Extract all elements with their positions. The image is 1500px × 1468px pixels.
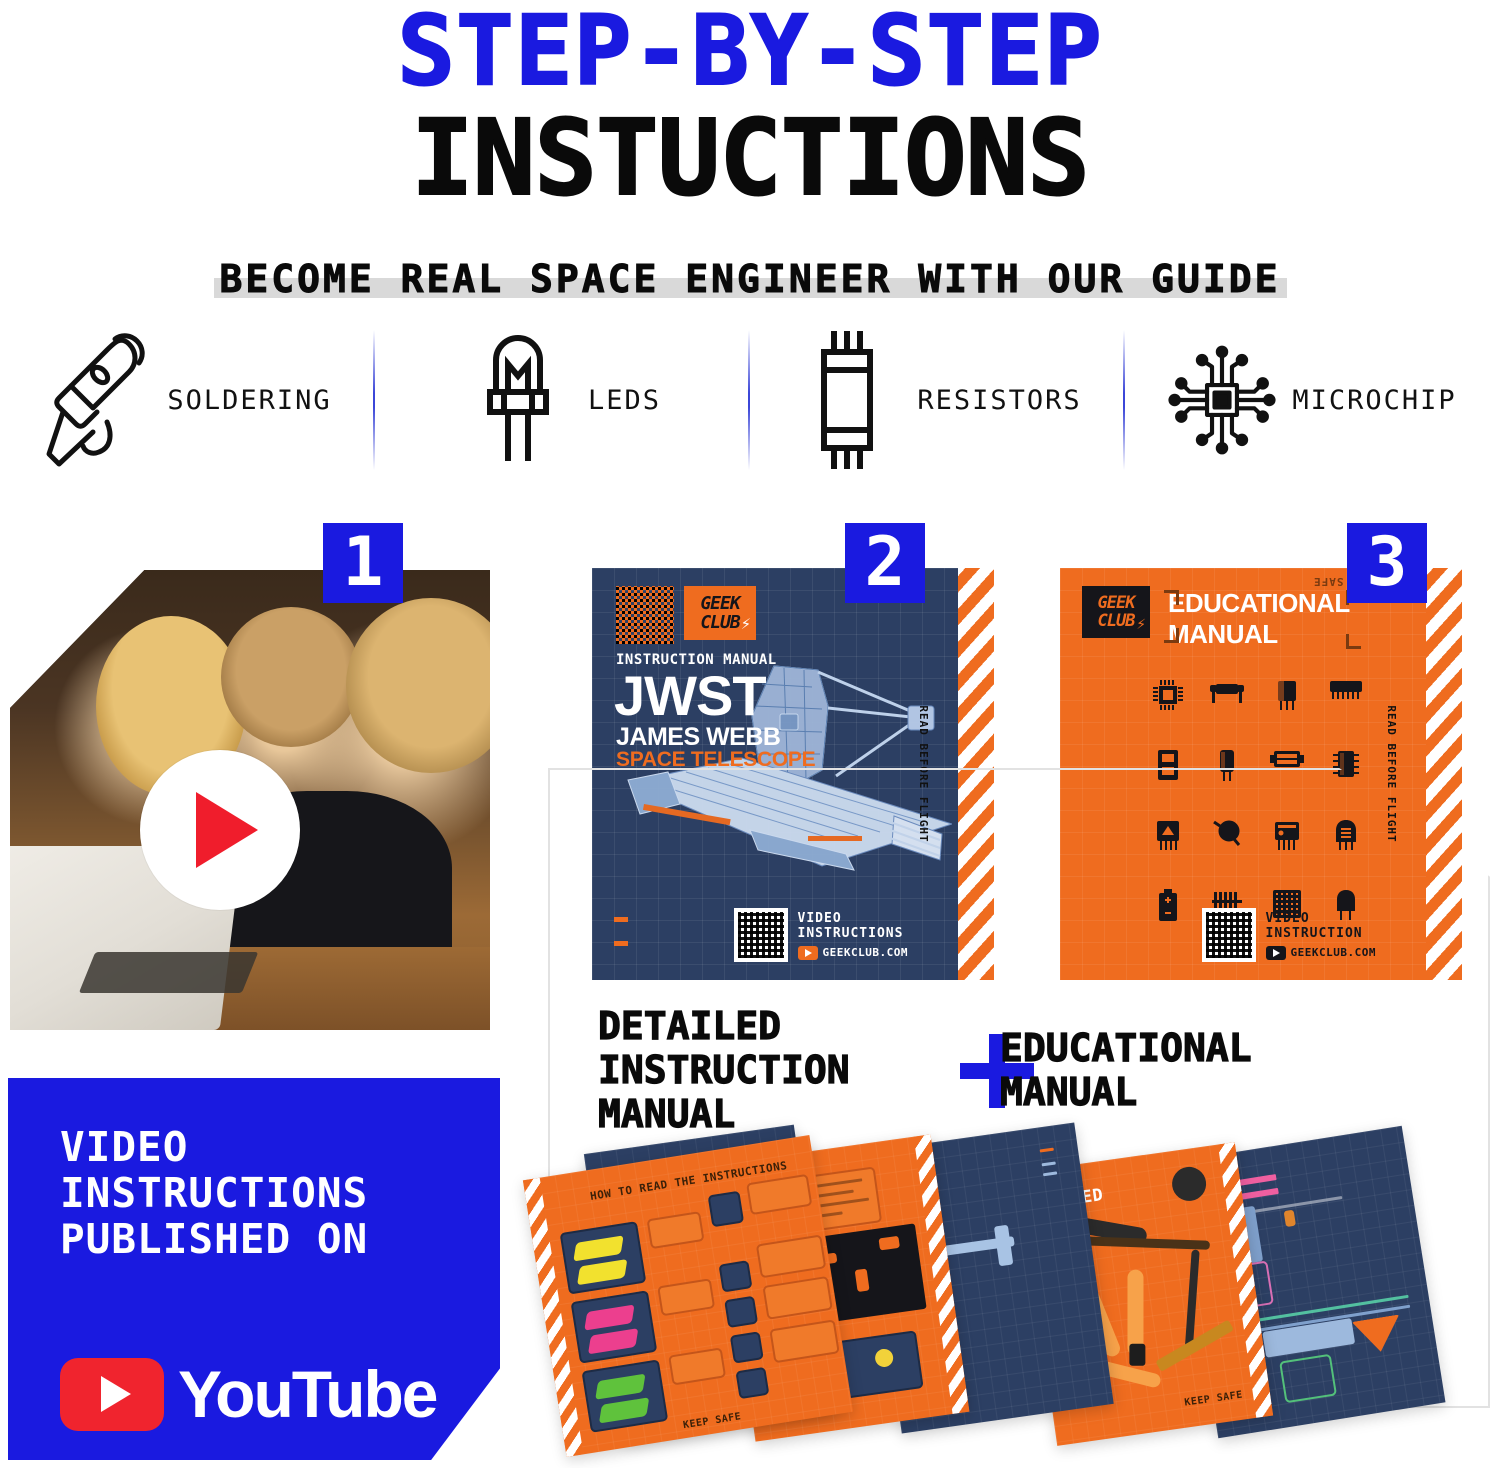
step-badge-3: 3 <box>1347 523 1427 603</box>
microchip-icon <box>1151 678 1185 712</box>
crop-mark-tl <box>1164 590 1179 605</box>
soldering-iron-icon <box>43 330 151 470</box>
step-badge-1: 1 <box>323 523 403 603</box>
jwst-header: GEEK CLUB ⚡ <box>616 586 756 644</box>
jwst-subtitle-1: JAMES WEBB <box>616 725 780 750</box>
youtube-play-icon <box>60 1358 164 1431</box>
educational-title: EDUCATIONAL MANUAL <box>1168 586 1350 648</box>
geek-club-logo: GEEK CLUB ⚡ <box>1082 586 1150 638</box>
caption-right-line-2: MANUAL <box>1000 1070 1252 1114</box>
title-line-1: EDUCATIONAL <box>1168 590 1350 617</box>
feature-label: SOLDERING <box>167 385 331 416</box>
youtube-panel: VIDEO INSTRUCTIONS PUBLISHED ON YouTube <box>8 1078 500 1460</box>
feature-label: RESISTORS <box>917 385 1081 416</box>
subtitle: BECOME REAL SPACE ENGINEER WITH OUR GUID… <box>214 258 1287 300</box>
header: STEP-BY-STEP INSTUCTIONS BECOME REAL SPA… <box>0 0 1500 300</box>
geek-club-logo: GEEK CLUB ⚡ <box>684 586 756 640</box>
person-father <box>221 607 361 747</box>
feature-label: LEDS <box>588 385 661 416</box>
feature-label: MICROCHIP <box>1292 385 1456 416</box>
crop-mark-bl <box>1164 628 1179 643</box>
microchip-icon <box>1168 330 1276 470</box>
caption-left-line-3: MANUAL <box>598 1092 850 1136</box>
qr-code-icon[interactable] <box>616 586 674 644</box>
logo-line-2: CLUB <box>1098 612 1135 630</box>
page-how-to-read: HOW TO READ THE INSTRUCTIONS KEEP SAFE <box>523 1135 853 1457</box>
caption-detailed-instruction-manual: DETAILED INSTRUCTION MANUAL <box>598 1004 850 1136</box>
transistor-icon <box>1273 678 1301 712</box>
caption-left-line-2: INSTRUCTION <box>598 1048 850 1092</box>
fuse-icon <box>1268 748 1306 770</box>
crop-mark-br <box>1346 634 1361 649</box>
yt-line-3: PUBLISHED ON <box>60 1216 500 1262</box>
feature-row: SOLDERING LEDS <box>0 316 1500 484</box>
subtitle-wrap: BECOME REAL SPACE ENGINEER WITH OUR GUID… <box>214 258 1287 300</box>
caption-left-line-1: DETAILED <box>598 1004 850 1048</box>
youtube-logo[interactable]: YouTube <box>60 1356 437 1432</box>
resistor-icon <box>793 330 901 470</box>
educational-header: GEEK CLUB ⚡ EDUCATIONAL MANUAL <box>1082 586 1350 648</box>
lightning-bolt-icon: ⚡ <box>1136 616 1146 632</box>
jwst-title: JWST <box>614 668 766 724</box>
yt-line-1: VIDEO <box>60 1124 500 1170</box>
caption-educational-manual: EDUCATIONAL MANUAL <box>1000 1026 1252 1114</box>
promo-page: STEP-BY-STEP INSTUCTIONS BECOME REAL SPA… <box>0 0 1500 1468</box>
feature-soldering: SOLDERING <box>0 316 375 484</box>
youtube-wordmark: YouTube <box>178 1356 437 1432</box>
headline-line-1: STEP-BY-STEP <box>0 2 1500 100</box>
logo-line-2: CLUB <box>700 613 739 632</box>
jwst-subtitle-2: SPACE TELESCOPE <box>616 749 815 770</box>
manual-page-spread: U NEED KEEP SAFE <box>585 1130 1500 1468</box>
laptop-keyboard <box>78 952 258 993</box>
yt-line-2: INSTRUCTIONS <box>60 1170 500 1216</box>
smd-resistor-icon <box>1208 678 1246 706</box>
feature-leds: LEDS <box>375 316 750 484</box>
feature-microchip: MICROCHIP <box>1125 316 1500 484</box>
logo-line-1: GEEK <box>700 594 739 613</box>
dip-ic-icon <box>1327 678 1365 702</box>
logo-line-1: GEEK <box>1098 594 1135 612</box>
youtube-triangle <box>101 1376 131 1412</box>
led-icon <box>464 330 572 470</box>
title-line-2: MANUAL <box>1168 621 1350 648</box>
feature-resistors: RESISTORS <box>750 316 1125 484</box>
play-button[interactable] <box>140 750 300 910</box>
lightning-bolt-icon: ⚡ <box>741 616 751 633</box>
step-badge-2: 2 <box>845 523 925 603</box>
play-triangle-icon <box>196 792 258 868</box>
headline-line-2: INSTUCTIONS <box>0 106 1500 210</box>
caption-right-line-1: EDUCATIONAL <box>1000 1026 1252 1070</box>
